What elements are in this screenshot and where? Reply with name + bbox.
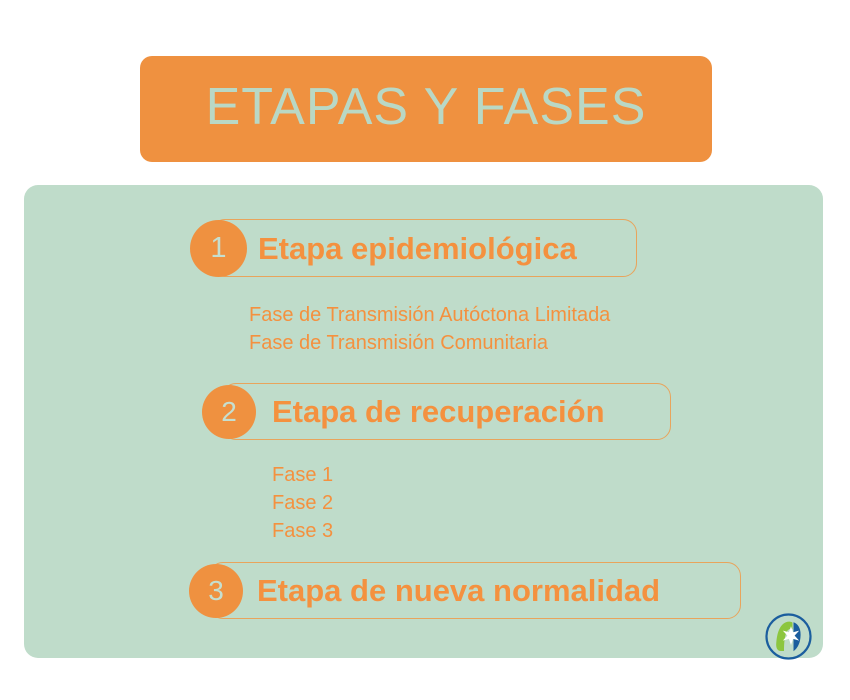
stage-1-label: Etapa epidemiológica [258, 233, 577, 264]
stage-2-label: Etapa de recuperación [272, 396, 605, 427]
phase-item: Fase de Transmisión Comunitaria [249, 329, 610, 357]
phase-item: Fase 1 [272, 461, 333, 489]
stage-row-2[interactable]: 2 Etapa de recuperación [202, 383, 671, 440]
stage-2-number-badge: 2 [202, 385, 256, 439]
phase-item: Fase 2 [272, 489, 333, 517]
page-title: ETAPAS Y FASES [206, 81, 647, 137]
stage-2-phase-list: Fase 1 Fase 2 Fase 3 [272, 461, 333, 545]
title-banner: ETAPAS Y FASES [140, 56, 712, 162]
stage-1-phase-list: Fase de Transmisión Autóctona Limitada F… [249, 301, 610, 357]
stage-row-1[interactable]: 1 Etapa epidemiológica [190, 219, 637, 277]
stage-3-label: Etapa de nueva normalidad [257, 575, 660, 606]
phase-item: Fase de Transmisión Autóctona Limitada [249, 301, 610, 329]
phase-item: Fase 3 [272, 517, 333, 545]
organization-logo-icon [765, 613, 812, 660]
stage-row-3[interactable]: 3 Etapa de nueva normalidad [189, 562, 741, 619]
stage-1-number-badge: 1 [190, 220, 247, 277]
stage-3-number-badge: 3 [189, 564, 243, 618]
